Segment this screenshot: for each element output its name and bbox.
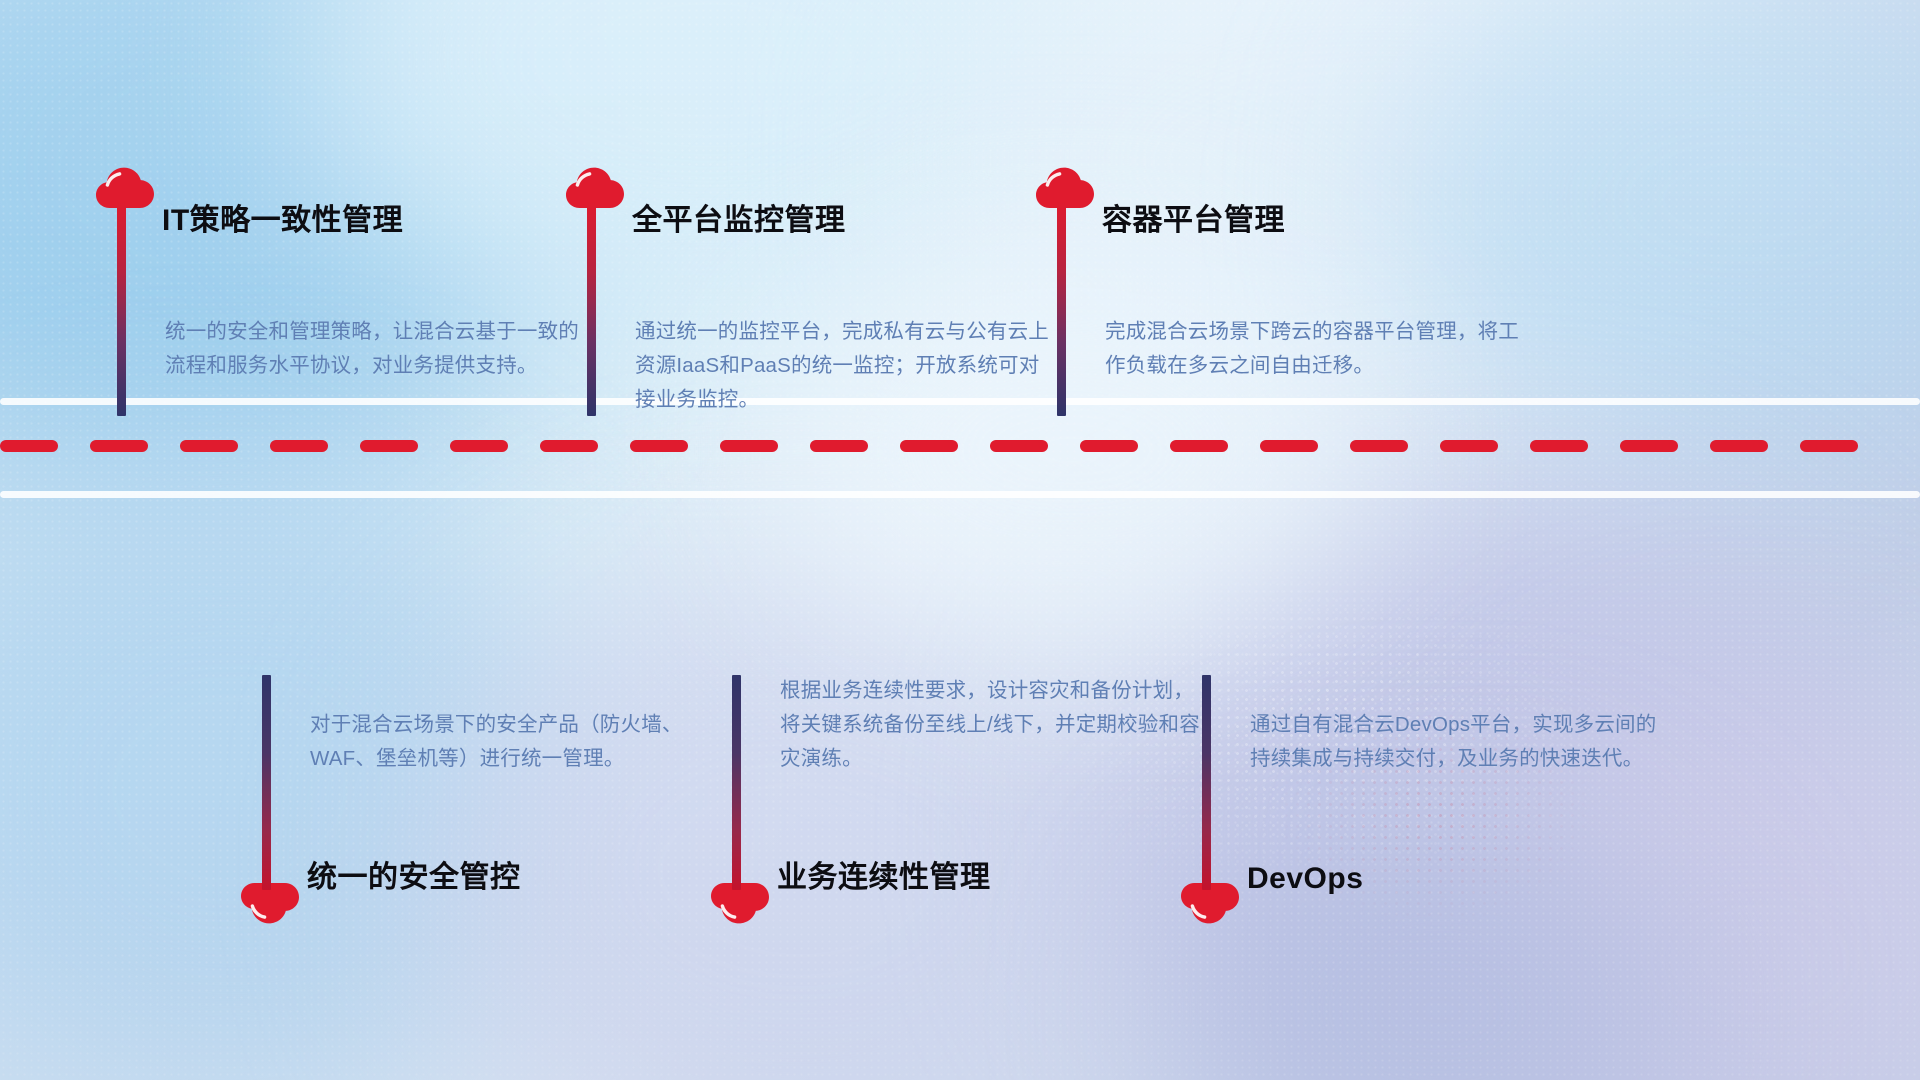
divider-dash: [1170, 440, 1228, 452]
divider-dash: [1440, 440, 1498, 452]
card-title: 业务连续性管理: [777, 852, 991, 896]
divider-dash: [270, 440, 328, 452]
connector-stem: [732, 675, 741, 890]
divider-rule-bottom: [0, 491, 1920, 498]
card-description: 通过统一的监控平台，完成私有云与公有云上资源IaaS和PaaS的统一监控；开放系…: [635, 315, 1055, 417]
connector-stem: [1057, 201, 1066, 416]
divider-dash: [540, 440, 598, 452]
divider-dash: [450, 440, 508, 452]
connector-stem: [117, 201, 126, 416]
divider-dash: [1620, 440, 1678, 452]
divider-dash: [1080, 440, 1138, 452]
connector-stem: [262, 675, 271, 890]
divider-dash: [630, 440, 688, 452]
divider-dash: [990, 440, 1048, 452]
divider-dash: [0, 440, 58, 452]
divider-dashed-line: [0, 440, 1920, 452]
card-title: 容器平台管理: [1102, 195, 1285, 239]
card-description: 完成混合云场景下跨云的容器平台管理，将工作负载在多云之间自由迁移。: [1105, 315, 1525, 383]
card-title: IT策略一致性管理: [162, 195, 403, 239]
card-description: 根据业务连续性要求，设计容灾和备份计划，将关键系统备份至线上/线下，并定期校验和…: [780, 674, 1205, 776]
divider-dash: [720, 440, 778, 452]
divider-dash: [810, 440, 868, 452]
divider-dash: [1530, 440, 1588, 452]
divider-dash: [1800, 440, 1858, 452]
card-title: DevOps: [1247, 862, 1363, 896]
divider-dash: [360, 440, 418, 452]
card-title: 全平台监控管理: [632, 195, 846, 239]
connector-stem: [1202, 675, 1211, 890]
divider-dash: [1710, 440, 1768, 452]
divider-dash: [900, 440, 958, 452]
card-description: 通过自有混合云DevOps平台，实现多云间的持续集成与持续交付，及业务的快速迭代…: [1250, 708, 1675, 776]
card-description: 对于混合云场景下的安全产品（防火墙、WAF、堡垒机等）进行统一管理。: [310, 708, 735, 776]
card-description: 统一的安全和管理策略，让混合云基于一致的流程和服务水平协议，对业务提供支持。: [165, 315, 585, 383]
card-title: 统一的安全管控: [307, 852, 521, 896]
connector-stem: [587, 201, 596, 416]
divider-dash: [90, 440, 148, 452]
divider-dash: [180, 440, 238, 452]
divider-dash: [1350, 440, 1408, 452]
divider-dash: [1260, 440, 1318, 452]
